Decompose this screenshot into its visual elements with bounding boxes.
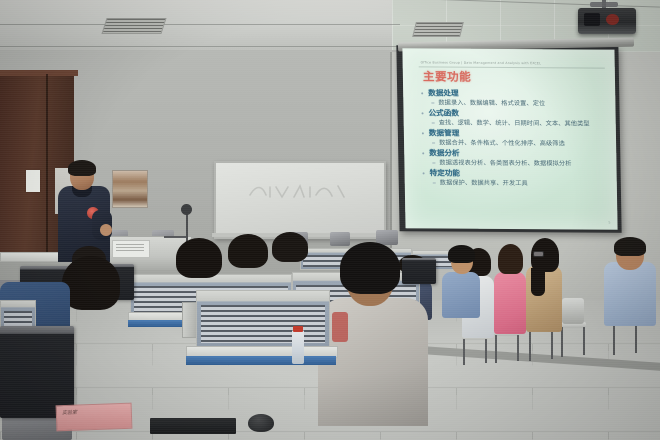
attendee-grey-jacket (318, 246, 428, 426)
ceiling-seam (0, 46, 400, 47)
slide-body: 数据处理 数据录入、数据编辑、格式设置、定位 公式函数 查找、逻辑、数学、统计、… (419, 88, 617, 189)
ceiling-vent (412, 22, 464, 37)
slide-section: 数据管理 数据合并、条件格式、个性化排序、高级筛选 (420, 128, 616, 148)
slide-section: 公式函数 查找、逻辑、数学、统计、日期时间、文本、其他类型 (419, 108, 615, 128)
ceiling-vent (101, 18, 166, 34)
whiteboard-erased-writing (246, 181, 351, 203)
instructor-hair (68, 160, 96, 176)
slide-section: 特定功能 数据保护、数据共享、开发工具 (420, 168, 616, 188)
glasses-icon (533, 251, 544, 257)
cabinet-top-trim (0, 70, 78, 76)
slide-section-detail: 数据透视表分析、各类图表分析、数据模拟分析 (420, 158, 616, 168)
classroom-photo: Office Business Group | Data Management … (0, 0, 660, 440)
ceiling-projector (578, 8, 636, 34)
mouse (248, 414, 274, 432)
attendee-head-row2b (228, 234, 268, 268)
slide-page-number: 5 (608, 221, 610, 225)
attendee-long-hair (531, 268, 545, 296)
instructor-hand (100, 224, 112, 236)
attendee-pink-top (494, 246, 526, 334)
attendee-head-row2 (176, 238, 222, 278)
bottle-cap (293, 326, 303, 332)
microphone-head-icon (181, 204, 192, 215)
projection-screen: Office Business Group | Data Management … (402, 48, 617, 229)
attendee-light-blue-shirt (604, 240, 656, 326)
ceiling-seam (0, 24, 400, 25)
pink-label-text: 实验室 (62, 409, 77, 417)
attendee-dark-hair-front (62, 256, 120, 316)
attendee-tan-jacket-glasses (526, 240, 562, 332)
slide-section: 数据分析 数据透视表分析、各类图表分析、数据模拟分析 (420, 148, 616, 168)
attendee-blue-shirt (442, 248, 480, 318)
slide-section: 数据处理 数据录入、数据编辑、格式设置、定位 (419, 88, 615, 108)
handwritten-pink-label (56, 403, 133, 432)
paper-notice (26, 170, 40, 192)
water-bottle (292, 330, 304, 364)
keyboard (150, 418, 236, 434)
slide-section-detail: 数据保护、数据共享、开发工具 (421, 178, 617, 188)
slide-section-detail: 查找、逻辑、数学、统计、日期时间、文本、其他类型 (420, 118, 616, 128)
cabinet-door-seam (46, 74, 48, 254)
lectern-panel-text (116, 244, 144, 253)
slide-section-detail: 数据录入、数据编辑、格式设置、定位 (419, 98, 615, 108)
slide-section-detail: 数据合并、条件格式、个性化排序、高级筛选 (420, 138, 616, 148)
whiteboard (214, 161, 386, 239)
monitor-rear (330, 232, 350, 246)
attendee-head-row3 (272, 232, 308, 262)
desk-partition (196, 290, 330, 348)
lanyard (332, 312, 348, 342)
desk-accent-strip (186, 356, 336, 365)
slide-title: 主要功能 (423, 68, 472, 84)
